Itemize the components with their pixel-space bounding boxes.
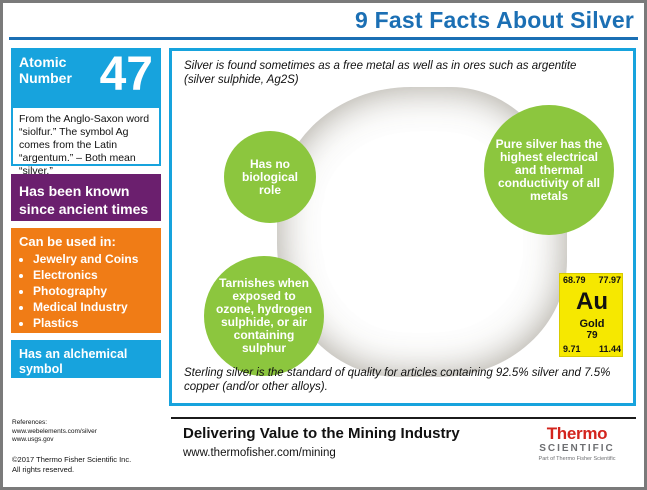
gold-card-bottom-values: 9.71 11.44 bbox=[560, 343, 624, 356]
atomic-label-line2: Number bbox=[19, 70, 72, 86]
list-item: Photography bbox=[33, 283, 153, 299]
gold-top-left-value: 68.79 bbox=[563, 275, 586, 286]
gold-name: Gold bbox=[560, 318, 624, 330]
reference-link[interactable]: www.webelements.com/silver bbox=[12, 428, 162, 437]
panel-bottom-caption: Sterling silver is the standard of quali… bbox=[184, 366, 614, 394]
footer-url[interactable]: www.thermofisher.com/mining bbox=[183, 447, 336, 459]
atomic-number-card: Atomic Number 47 bbox=[11, 48, 161, 108]
gold-card-top-values: 68.79 77.97 bbox=[560, 274, 624, 287]
fact-bubble-no-biological-role: Has no biological role bbox=[224, 131, 316, 223]
gold-bottom-right-value: 11.44 bbox=[599, 344, 621, 355]
page-title: 9 Fast Facts About Silver bbox=[355, 7, 634, 34]
title-divider bbox=[9, 37, 638, 40]
footer-divider bbox=[171, 417, 636, 419]
gold-atomic-number: 79 bbox=[560, 330, 624, 341]
name-origin-card: From the Anglo-Saxon word “siolfur.” The… bbox=[11, 108, 161, 166]
brand-name: Thermo bbox=[522, 425, 632, 443]
list-item: Medical Industry bbox=[33, 299, 153, 315]
reference-link[interactable]: www.usgs.gov bbox=[12, 436, 162, 445]
atomic-number-label: Atomic Number bbox=[19, 54, 89, 86]
main-panel: Silver is found sometimes as a free meta… bbox=[169, 48, 636, 406]
list-item: Plastics bbox=[33, 315, 153, 331]
atomic-label-line1: Atomic bbox=[19, 54, 66, 70]
copyright-line-1: ©2017 Thermo Fisher Scientific Inc. bbox=[12, 455, 172, 465]
known-since-card: Has been known since ancient times bbox=[11, 174, 161, 221]
gold-bottom-left-value: 9.71 bbox=[563, 344, 581, 355]
references-heading: References: bbox=[12, 419, 162, 428]
list-item: Electronics bbox=[33, 267, 153, 283]
title-bar: 9 Fast Facts About Silver bbox=[3, 3, 644, 41]
atomic-number-value: 47 bbox=[100, 46, 153, 104]
uses-title: Can be used in: bbox=[19, 234, 153, 249]
list-item: Jewelry and Coins bbox=[33, 251, 153, 267]
references-block: References: www.webelements.com/silver w… bbox=[12, 419, 162, 445]
left-column: Atomic Number 47 From the Anglo-Saxon wo… bbox=[11, 48, 161, 378]
gold-top-right-value: 77.97 bbox=[598, 275, 621, 286]
thermo-fisher-logo: Thermo SCIENTIFIC Part of Thermo Fisher … bbox=[522, 425, 632, 463]
infographic-page: 9 Fast Facts About Silver Atomic Number … bbox=[0, 0, 647, 490]
panel-top-caption: Silver is found sometimes as a free meta… bbox=[184, 59, 604, 87]
uses-card: Can be used in: Jewelry and Coins Electr… bbox=[11, 228, 161, 333]
uses-list: Jewelry and Coins Electronics Photograph… bbox=[19, 251, 153, 331]
gold-symbol: Au bbox=[560, 289, 624, 315]
brand-subname: SCIENTIFIC bbox=[522, 443, 632, 454]
copyright-line-2: All rights reserved. bbox=[12, 465, 172, 475]
copyright-block: ©2017 Thermo Fisher Scientific Inc. All … bbox=[12, 455, 172, 475]
fact-bubble-tarnishes: Tarnishes when exposed to ozone, hydroge… bbox=[204, 256, 324, 376]
footer-tagline: Delivering Value to the Mining Industry bbox=[183, 425, 460, 442]
alchemical-symbol-card: Has an alchemical symbol bbox=[11, 340, 161, 378]
brand-tagline: Part of Thermo Fisher Scientific bbox=[522, 455, 632, 463]
gold-element-card: 68.79 77.97 Au Gold 79 9.71 11.44 bbox=[559, 273, 623, 357]
fact-bubble-highest-conductivity: Pure silver has the highest electrical a… bbox=[484, 105, 614, 235]
